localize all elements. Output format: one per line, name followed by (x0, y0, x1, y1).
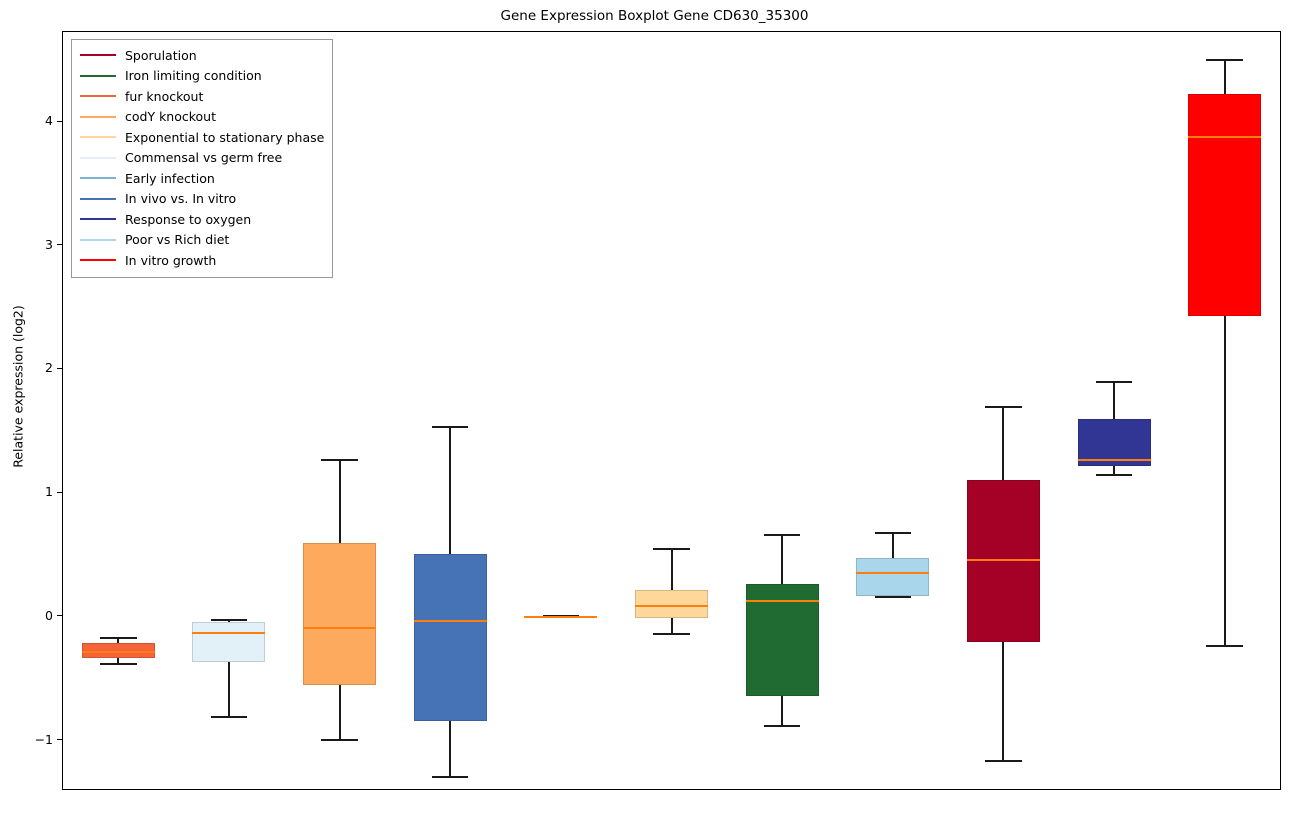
whisker-lower (1224, 316, 1226, 645)
whisker-lower (449, 721, 451, 777)
boxplot-box (635, 32, 708, 789)
y-tick-label: 3 (45, 236, 53, 254)
y-tick-label: 0 (45, 607, 53, 625)
whisker-cap-upper (1206, 59, 1243, 61)
legend-label: Poor vs Rich diet (125, 232, 229, 247)
boxplot-box (1078, 32, 1151, 789)
median-line (1078, 459, 1151, 461)
median-line (635, 605, 708, 607)
legend-label: Sporulation (125, 48, 197, 63)
legend-label: Exponential to stationary phase (125, 130, 324, 145)
whisker-upper (339, 460, 341, 543)
boxplot-box (524, 32, 597, 789)
whisker-upper (671, 549, 673, 590)
legend-color-swatch (80, 239, 116, 241)
legend-color-swatch (80, 198, 116, 200)
whisker-lower (228, 662, 230, 718)
y-axis-label: Relative expression (log2) (11, 0, 26, 837)
chart-root: Gene Expression Boxplot Gene CD630_35300… (0, 0, 1309, 812)
median-line (414, 620, 487, 622)
whisker-cap-lower (985, 760, 1022, 762)
whisker-cap-lower (875, 596, 912, 598)
legend-item: In vivo vs. In vitro (80, 189, 324, 210)
whisker-upper (1113, 382, 1115, 419)
whisker-cap-upper (985, 406, 1022, 408)
whisker-cap-lower (211, 716, 248, 718)
whisker-lower (671, 618, 673, 634)
legend-color-swatch (80, 95, 116, 97)
legend-label: In vivo vs. In vitro (125, 191, 236, 206)
median-line (856, 572, 929, 574)
box-iqr (303, 543, 376, 685)
whisker-cap-upper (764, 534, 801, 536)
legend-label: fur knockout (125, 89, 203, 104)
whisker-cap-lower (432, 776, 469, 778)
whisker-cap-lower (1096, 474, 1133, 476)
whisker-cap-upper (321, 459, 358, 461)
whisker-cap-lower (321, 739, 358, 741)
legend-color-swatch (80, 75, 116, 77)
whisker-cap-upper (211, 619, 248, 621)
y-tick-label: 2 (45, 359, 53, 377)
boxplot-box (1188, 32, 1261, 789)
median-line (1188, 136, 1261, 138)
legend-color-swatch (80, 136, 116, 138)
legend-color-swatch (80, 218, 116, 220)
legend-color-swatch (80, 157, 116, 159)
median-line (82, 651, 155, 653)
boxplot-box (746, 32, 819, 789)
whisker-cap-lower (100, 663, 137, 665)
legend-item: codY knockout (80, 107, 324, 128)
legend-item: fur knockout (80, 86, 324, 107)
legend-label: Response to oxygen (125, 212, 251, 227)
legend-item: Response to oxygen (80, 209, 324, 230)
whisker-upper (449, 427, 451, 554)
legend-item: Iron limiting condition (80, 66, 324, 87)
median-line (524, 616, 597, 618)
legend-label: codY knockout (125, 109, 216, 124)
legend-color-swatch (80, 116, 116, 118)
median-line (967, 559, 1040, 561)
legend-item: Commensal vs germ free (80, 148, 324, 169)
median-line (192, 632, 265, 634)
legend-label: Early infection (125, 171, 215, 186)
whisker-lower (781, 696, 783, 726)
whisker-upper (781, 535, 783, 583)
legend-item: Exponential to stationary phase (80, 127, 324, 148)
median-line (303, 627, 376, 629)
y-tick-label: −1 (35, 731, 53, 749)
legend-item: Early infection (80, 168, 324, 189)
whisker-upper (892, 533, 894, 558)
whisker-cap-lower (1206, 645, 1243, 647)
y-tick-label: 1 (45, 483, 53, 501)
box-iqr (414, 554, 487, 721)
boxplot-box (856, 32, 929, 789)
legend-color-swatch (80, 54, 116, 56)
legend-label: Commensal vs germ free (125, 150, 282, 165)
whisker-cap-upper (653, 548, 690, 550)
whisker-cap-lower (653, 633, 690, 635)
whisker-cap-upper (100, 637, 137, 639)
legend-item: In vitro growth (80, 250, 324, 271)
whisker-lower (1002, 642, 1004, 761)
median-line (746, 600, 819, 602)
legend-label: In vitro growth (125, 253, 216, 268)
chart-title: Gene Expression Boxplot Gene CD630_35300 (0, 8, 1309, 24)
whisker-cap-upper (1096, 381, 1133, 383)
whisker-upper (1224, 60, 1226, 93)
box-iqr (192, 622, 265, 662)
legend-color-swatch (80, 177, 116, 179)
boxplot-box (967, 32, 1040, 789)
legend-item: Poor vs Rich diet (80, 230, 324, 251)
whisker-cap-upper (432, 426, 469, 428)
box-iqr (856, 558, 929, 596)
legend-item: Sporulation (80, 45, 324, 66)
whisker-lower (339, 685, 341, 739)
whisker-cap-lower (764, 725, 801, 727)
boxplot-box (414, 32, 487, 789)
y-tick-label: 4 (45, 112, 53, 130)
legend-label: Iron limiting condition (125, 68, 262, 83)
legend: SporulationIron limiting conditionfur kn… (71, 39, 333, 278)
whisker-upper (1002, 407, 1004, 480)
legend-color-swatch (80, 259, 116, 261)
box-iqr (1188, 94, 1261, 317)
whisker-cap-upper (875, 532, 912, 534)
